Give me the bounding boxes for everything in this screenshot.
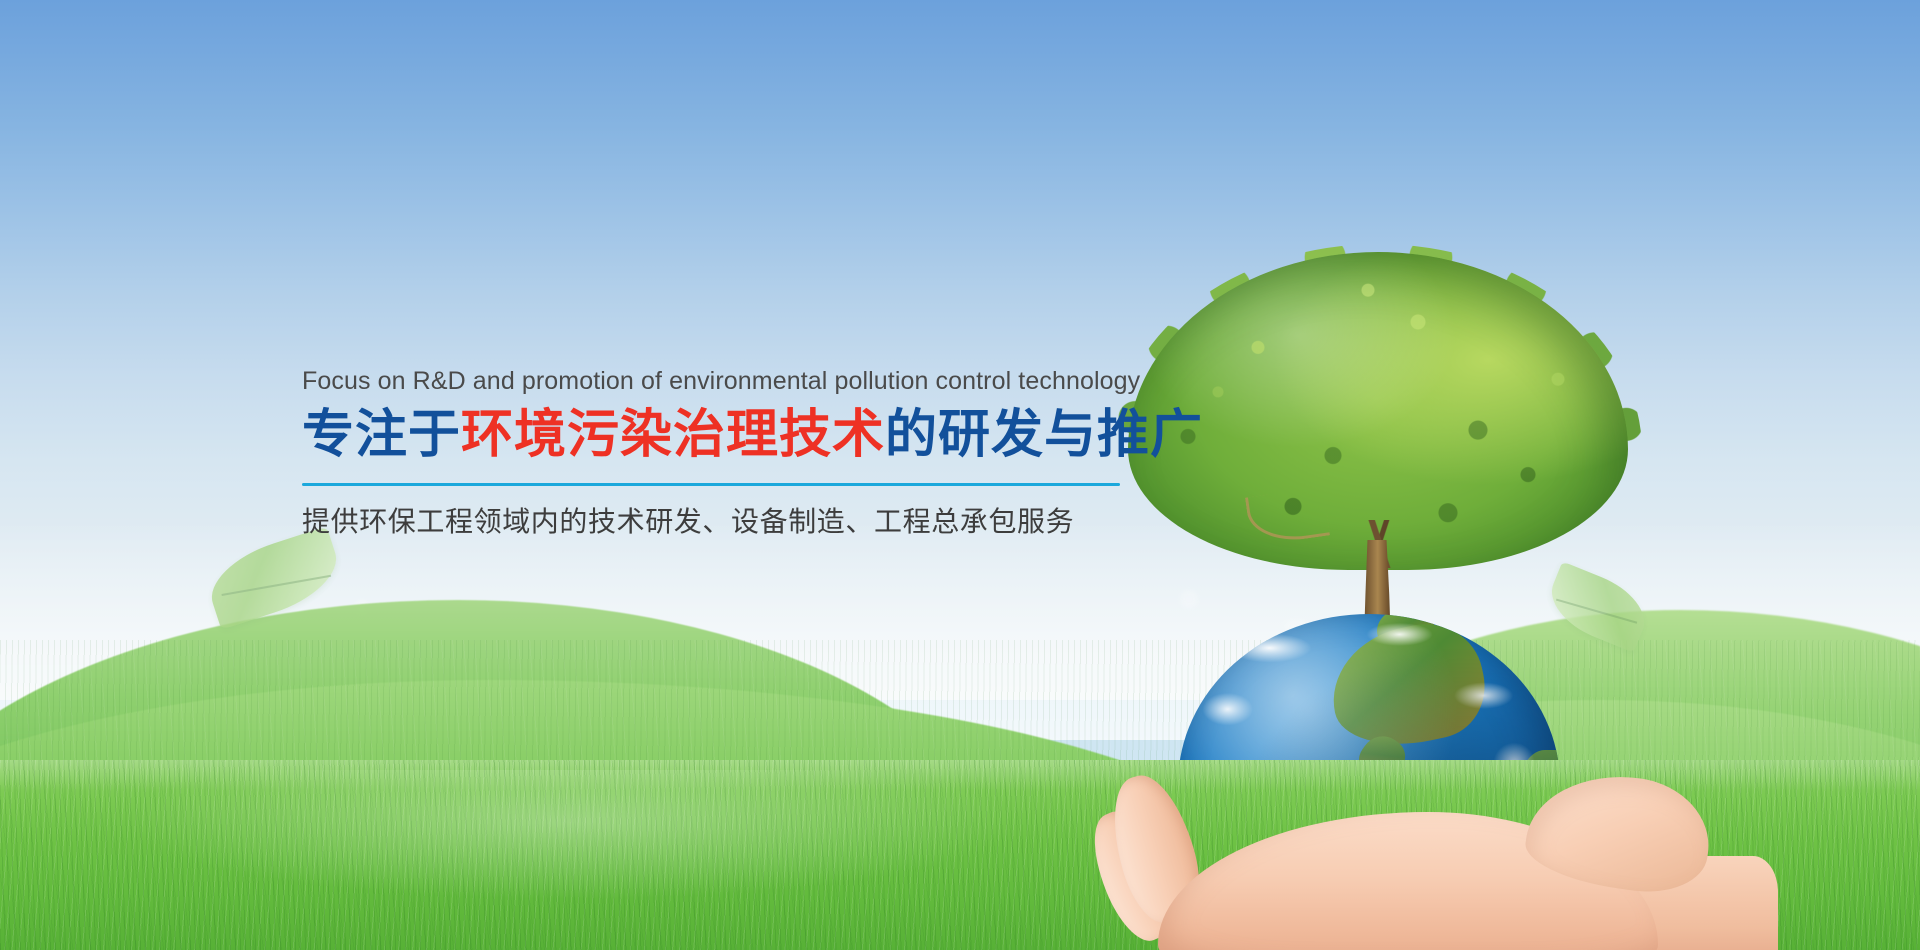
cupped-hands [1098, 760, 1718, 950]
subtitle: 提供环保工程领域内的技术研发、设备制造、工程总承包服务 [302, 504, 1120, 540]
english-tagline: Focus on R&D and promotion of environmen… [302, 366, 1120, 396]
leaf-vein [221, 575, 330, 596]
headline-segment-suffix: 的研发与推广 [885, 406, 1203, 464]
headline-segment-prefix: 专注于 [302, 406, 461, 464]
hero-copy-block: Focus on R&D and promotion of environmen… [302, 366, 1120, 541]
meadow-highlight [120, 770, 1020, 900]
headline-segment-highlight: 环境污染治理技术 [461, 406, 885, 464]
page-title: 专注于环境污染治理技术的研发与推广 [302, 404, 1120, 467]
divider-line [302, 483, 1120, 486]
hero-banner: Focus on R&D and promotion of environmen… [0, 0, 1920, 950]
leaf-vein [1556, 598, 1637, 623]
